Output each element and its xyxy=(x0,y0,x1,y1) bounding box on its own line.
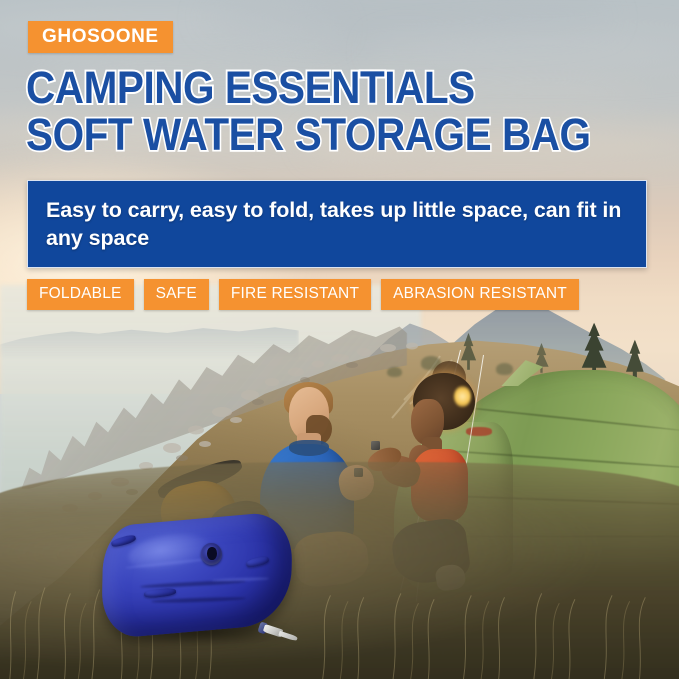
cloud xyxy=(204,0,611,35)
sun-flare xyxy=(454,386,470,407)
feature-tag-fire-resistant: FIRE RESISTANT xyxy=(219,279,371,310)
description-box: Easy to carry, easy to fold, takes up li… xyxy=(27,180,647,268)
soft-water-storage-bag xyxy=(102,519,292,631)
feature-tag-list: FOLDABLE SAFE FIRE RESISTANT ABRASION RE… xyxy=(27,279,579,310)
headline-block: CAMPING ESSENTIALS SOFT WATER STORAGE BA… xyxy=(26,66,646,156)
product-marketing-image: GHOSOONE CAMPING ESSENTIALS SOFT WATER S… xyxy=(0,0,679,679)
feature-tag-safe: SAFE xyxy=(144,279,209,310)
fill-cap-center xyxy=(207,547,217,559)
feature-tag-foldable: FOLDABLE xyxy=(27,279,134,310)
description-text: Easy to carry, easy to fold, takes up li… xyxy=(46,196,628,253)
grass-blades xyxy=(0,435,664,679)
brand-badge: GHOSOONE xyxy=(28,21,173,53)
headline-line-1: CAMPING ESSENTIALS xyxy=(26,66,584,109)
spigot-nozzle xyxy=(279,630,298,640)
feature-tag-abrasion-resistant: ABRASION RESISTANT xyxy=(381,279,579,310)
headline-line-2: SOFT WATER STORAGE BAG xyxy=(26,113,584,156)
